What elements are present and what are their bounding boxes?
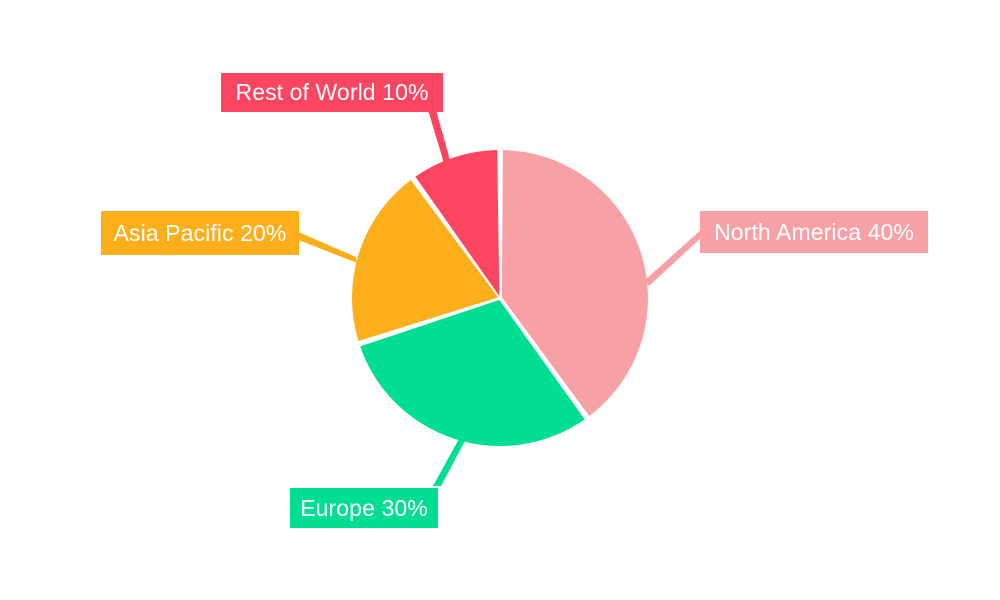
pie-label-asia-pacific: Asia Pacific 20%: [101, 211, 299, 255]
pie-label-north-america: North America 40%: [700, 211, 928, 253]
leader-line-asia-pacific: [296, 231, 357, 263]
pie-label-north-america-text: North America 40%: [714, 221, 914, 244]
pie-label-rest-of-world: Rest of World 10%: [221, 73, 443, 112]
leader-line-europe: [433, 437, 466, 486]
pie-wedge-group: [352, 150, 648, 446]
leader-line-north-america: [645, 228, 703, 286]
pie-label-rest-of-world-text: Rest of World 10%: [235, 81, 428, 104]
pie-chart-canvas: North America 40% Europe 30% Asia Pacifi…: [0, 0, 1000, 600]
pie-chart-graphic: [0, 0, 1000, 600]
pie-label-europe-text: Europe 30%: [300, 497, 428, 520]
pie-label-asia-pacific-text: Asia Pacific 20%: [114, 222, 287, 245]
pie-label-europe: Europe 30%: [290, 488, 438, 528]
